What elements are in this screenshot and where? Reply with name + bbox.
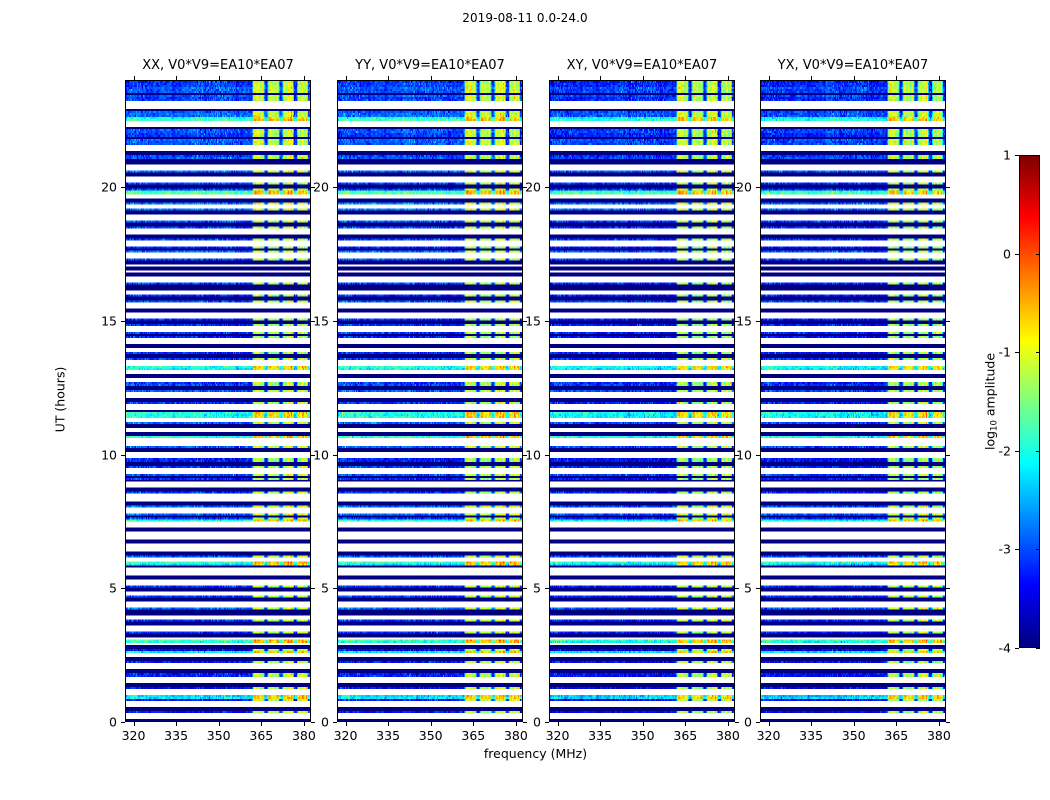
y-tick-right [311, 722, 315, 723]
colorbar-tick-inner [1036, 549, 1040, 550]
y-tick [333, 187, 337, 188]
y-tick-right [946, 321, 950, 322]
x-tick-top [304, 76, 305, 80]
x-tick [600, 722, 601, 726]
x-tick-top [473, 76, 474, 80]
y-tick [756, 321, 760, 322]
x-tick-top [600, 76, 601, 80]
colorbar-gradient [1019, 155, 1040, 648]
x-tick-label: 320 [757, 728, 781, 743]
colorbar-tick-inner [1036, 648, 1040, 649]
panel-yy: YY, V0*V9=EA10*EA07320335350365380051015… [337, 80, 523, 722]
x-tick [558, 722, 559, 726]
x-tick-top [388, 76, 389, 80]
colorbar-tick-label: -1 [999, 345, 1011, 360]
y-tick-label: 20 [101, 180, 117, 195]
y-tick-label: 15 [525, 313, 541, 328]
panel-yx: YX, V0*V9=EA10*EA07320335350365380051015… [760, 80, 946, 722]
x-tick-label: 365 [673, 728, 697, 743]
y-tick [545, 321, 549, 322]
x-tick-top [769, 76, 770, 80]
x-axis-label: frequency (MHz) [125, 746, 946, 761]
y-tick-label: 0 [321, 715, 329, 730]
x-tick-label: 320 [334, 728, 358, 743]
x-tick-label: 335 [588, 728, 612, 743]
x-tick-label: 320 [122, 728, 146, 743]
panel-title-yy: YY, V0*V9=EA10*EA07 [337, 58, 523, 73]
y-tick [121, 455, 125, 456]
y-tick [545, 588, 549, 589]
x-tick-top [811, 76, 812, 80]
x-tick-label: 365 [884, 728, 908, 743]
x-tick-label: 320 [546, 728, 570, 743]
colorbar [1019, 155, 1040, 648]
y-tick-right [946, 455, 950, 456]
y-tick [333, 321, 337, 322]
x-tick-top [896, 76, 897, 80]
panel-title-xx: XX, V0*V9=EA10*EA07 [125, 58, 311, 73]
y-axis-label: UT (hours) [53, 320, 68, 480]
panel-title-xy: XY, V0*V9=EA10*EA07 [549, 58, 735, 73]
colorbar-tick [1015, 254, 1019, 255]
colorbar-label: log10 amplitude [983, 341, 1000, 461]
x-tick [939, 722, 940, 726]
x-tick-top [854, 76, 855, 80]
y-tick [545, 722, 549, 723]
x-tick [304, 722, 305, 726]
y-tick [121, 187, 125, 188]
colorbar-tick-inner [1036, 451, 1040, 452]
colorbar-tick [1015, 352, 1019, 353]
y-tick [333, 588, 337, 589]
colorbar-tick-label: -3 [999, 542, 1011, 557]
x-tick-label: 350 [631, 728, 655, 743]
y-tick [333, 455, 337, 456]
x-tick [811, 722, 812, 726]
colorbar-label-subscript: 10 [990, 420, 1000, 431]
panel-xx: XX, V0*V9=EA10*EA07320335350365380051015… [125, 80, 311, 722]
y-tick-label: 5 [321, 581, 329, 596]
x-tick [769, 722, 770, 726]
colorbar-tick-inner [1036, 155, 1040, 156]
y-tick-label: 20 [525, 180, 541, 195]
x-tick-top [134, 76, 135, 80]
y-tick-right [735, 722, 739, 723]
x-tick [176, 722, 177, 726]
y-tick-right [735, 588, 739, 589]
colorbar-tick-label: -4 [999, 641, 1011, 656]
x-tick-top [219, 76, 220, 80]
waterfall-image-xx [125, 80, 311, 722]
y-tick-label: 10 [101, 447, 117, 462]
colorbar-tick-inner [1036, 352, 1040, 353]
panel-xy: XY, V0*V9=EA10*EA07320335350365380051015… [549, 80, 735, 722]
y-tick-label: 20 [313, 180, 329, 195]
y-tick-label: 0 [109, 715, 117, 730]
x-tick-label: 335 [164, 728, 188, 743]
x-tick-label: 335 [799, 728, 823, 743]
x-tick [473, 722, 474, 726]
x-tick-label: 380 [504, 728, 528, 743]
y-tick-right [946, 187, 950, 188]
y-tick-right [523, 722, 527, 723]
x-tick-label: 380 [292, 728, 316, 743]
colorbar-tick [1015, 648, 1019, 649]
y-tick-label: 10 [736, 447, 752, 462]
x-tick-top [516, 76, 517, 80]
x-tick [346, 722, 347, 726]
x-tick-top [176, 76, 177, 80]
x-tick-label: 380 [716, 728, 740, 743]
x-tick-top [685, 76, 686, 80]
x-tick-label: 350 [842, 728, 866, 743]
panel-title-yx: YX, V0*V9=EA10*EA07 [760, 58, 946, 73]
y-tick [121, 722, 125, 723]
y-tick [756, 722, 760, 723]
colorbar-tick [1015, 549, 1019, 550]
x-tick-top [261, 76, 262, 80]
x-tick-top [558, 76, 559, 80]
y-tick [545, 455, 549, 456]
y-tick-right [523, 588, 527, 589]
y-tick [756, 455, 760, 456]
y-tick-label: 15 [313, 313, 329, 328]
x-tick-top [643, 76, 644, 80]
figure-suptitle: 2019-08-11 0.0-24.0 [0, 11, 1050, 25]
x-tick-top [939, 76, 940, 80]
y-tick-label: 15 [101, 313, 117, 328]
x-tick [388, 722, 389, 726]
x-tick [219, 722, 220, 726]
x-tick [896, 722, 897, 726]
waterfall-image-yx [760, 80, 946, 722]
colorbar-tick [1015, 451, 1019, 452]
y-tick [756, 588, 760, 589]
y-tick-label: 10 [525, 447, 541, 462]
y-tick-label: 0 [744, 715, 752, 730]
waterfall-image-yy [337, 80, 523, 722]
y-tick [545, 187, 549, 188]
x-tick-top [346, 76, 347, 80]
x-tick [685, 722, 686, 726]
x-tick-top [728, 76, 729, 80]
colorbar-tick-label: 1 [1003, 148, 1011, 163]
waterfall-image-xy [549, 80, 735, 722]
y-tick [121, 588, 125, 589]
y-tick [756, 187, 760, 188]
y-tick-label: 5 [744, 581, 752, 596]
x-tick-top [431, 76, 432, 80]
x-tick [728, 722, 729, 726]
colorbar-tick-label: 0 [1003, 246, 1011, 261]
x-tick [516, 722, 517, 726]
x-tick [431, 722, 432, 726]
colorbar-label-suffix: amplitude [983, 352, 998, 419]
y-tick-right [946, 588, 950, 589]
y-tick-label: 20 [736, 180, 752, 195]
y-tick-label: 5 [109, 581, 117, 596]
x-tick-label: 335 [376, 728, 400, 743]
x-tick [643, 722, 644, 726]
y-tick [333, 722, 337, 723]
x-tick-label: 365 [249, 728, 273, 743]
x-tick-label: 380 [927, 728, 951, 743]
y-tick-right [946, 722, 950, 723]
x-tick-label: 350 [207, 728, 231, 743]
colorbar-tick-inner [1036, 254, 1040, 255]
figure-canvas: 2019-08-11 0.0-24.0 XX, V0*V9=EA10*EA073… [0, 0, 1050, 800]
y-tick [121, 321, 125, 322]
y-tick-label: 15 [736, 313, 752, 328]
y-tick-label: 5 [533, 581, 541, 596]
colorbar-tick [1015, 155, 1019, 156]
x-tick [261, 722, 262, 726]
y-tick-label: 0 [533, 715, 541, 730]
colorbar-label-prefix: log [983, 430, 998, 449]
x-tick-label: 365 [461, 728, 485, 743]
x-tick [134, 722, 135, 726]
y-tick-label: 10 [313, 447, 329, 462]
y-tick-right [311, 588, 315, 589]
x-tick-label: 350 [419, 728, 443, 743]
colorbar-tick-label: -2 [999, 443, 1011, 458]
x-tick [854, 722, 855, 726]
